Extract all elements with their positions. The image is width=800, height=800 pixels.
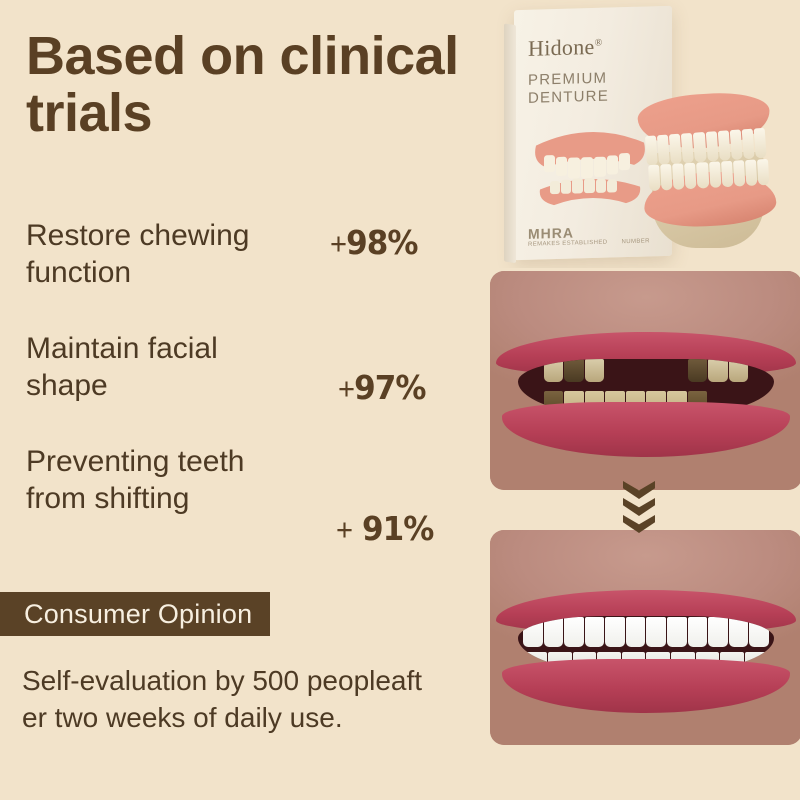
certification-subtext-left: REMAKES ESTABLISHED <box>528 240 608 248</box>
benefit-label: Restore chewing function <box>26 218 326 291</box>
benefit-label: Preventing teeth from shifting <box>26 444 326 517</box>
benefit-percentage: 98% <box>346 223 417 262</box>
page-title: Based on clinical trials <box>26 28 496 142</box>
benefit-plus-sign: + <box>336 512 352 547</box>
benefit-plus-sign: + <box>338 371 354 406</box>
benefit-row: Preventing teeth from shifting + 91% <box>26 434 476 542</box>
chevron-down-icon <box>623 515 655 533</box>
upper-teeth-restored <box>523 617 769 647</box>
benefit-value: + 91% <box>336 509 433 548</box>
benefit-plus-sign: + <box>330 226 346 261</box>
chevron-down-icon <box>623 498 655 516</box>
benefit-row: Restore chewing function +98% <box>26 218 476 326</box>
denture-model <box>630 78 792 260</box>
before-photo <box>490 271 800 490</box>
benefit-value: +98% <box>330 223 418 262</box>
after-photo <box>490 530 800 745</box>
benefit-value: +97% <box>338 368 426 407</box>
consumer-opinion-banner: Consumer Opinion <box>0 592 270 636</box>
denture-upper-arch <box>636 89 771 152</box>
benefit-row: Maintain facial shape +97% <box>26 326 476 434</box>
consumer-opinion-body: Self-evaluation by 500 peopleaft er two … <box>22 662 492 736</box>
upper-teeth-damaged <box>523 359 769 383</box>
brand-name: Hidone® <box>528 34 602 62</box>
consumer-opinion-label: Consumer Opinion <box>24 599 252 630</box>
denture-lower-arch <box>643 169 778 230</box>
chevron-down-icon <box>623 481 655 499</box>
transition-arrows <box>620 481 658 533</box>
brand-text: Hidone <box>528 34 595 61</box>
benefit-percentage: 91% <box>362 509 433 548</box>
benefit-label: Maintain facial shape <box>26 331 326 404</box>
promo-graphic: Based on clinical trials Restore chewing… <box>0 0 800 800</box>
registered-trademark-icon: ® <box>595 37 603 48</box>
benefit-percentage: 97% <box>354 368 425 407</box>
benefits-list: Restore chewing function +98% Maintain f… <box>26 218 476 542</box>
product-hero: Hidone® PREMIUM DENTURE <box>480 0 800 268</box>
